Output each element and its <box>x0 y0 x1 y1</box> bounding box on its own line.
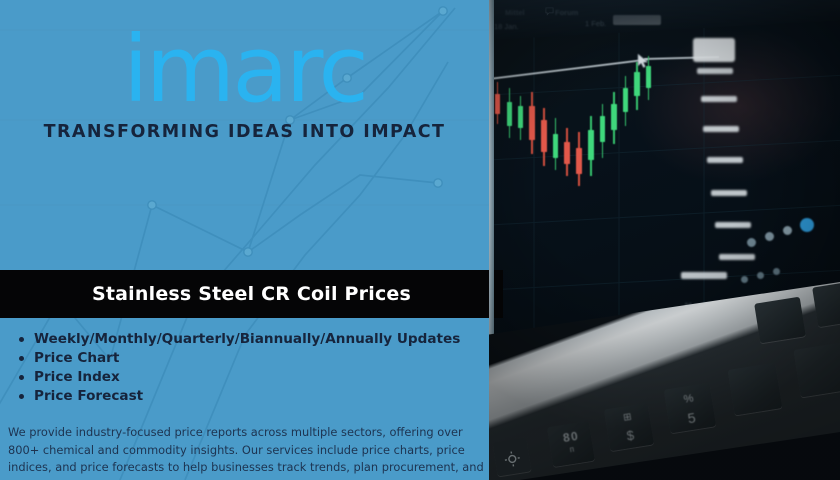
price-level <box>715 222 751 228</box>
list-item: Price Forecast <box>34 387 489 406</box>
candlestick <box>600 104 605 158</box>
keycap-upper-row[interactable] <box>754 297 806 344</box>
candlestick <box>611 92 617 144</box>
price-level <box>719 254 755 260</box>
price-level <box>701 96 737 102</box>
candlestick <box>623 76 628 126</box>
product-title-bar: Stainless Steel CR Coil Prices <box>0 270 503 318</box>
price-highlight-box <box>693 38 735 62</box>
description-text: We provide industry-focused price report… <box>8 424 489 480</box>
status-dot <box>757 272 764 279</box>
candlestick <box>553 118 558 170</box>
status-bar-value <box>681 272 727 279</box>
keycap-five[interactable]: % 5 <box>664 383 716 434</box>
status-dot <box>783 226 792 235</box>
list-item: Price Chart <box>34 349 489 368</box>
left-info-panel: imarc TRANSFORMING IDEAS INTO IMPACT Wee… <box>0 0 489 480</box>
price-level <box>711 190 747 196</box>
keycap-six[interactable] <box>728 363 783 416</box>
candlestick <box>576 132 582 186</box>
mouse-cursor-icon <box>637 53 649 69</box>
price-level <box>697 68 733 74</box>
imarc-logo: imarc <box>123 24 366 116</box>
status-dot <box>747 238 756 247</box>
candlestick <box>518 96 523 140</box>
price-report-banner: imarc TRANSFORMING IDEAS INTO IMPACT Wee… <box>0 0 840 480</box>
price-level <box>703 126 739 132</box>
candlestick <box>507 88 512 138</box>
candlestick <box>495 82 500 124</box>
keycap-dollar[interactable]: ⊞ $ <box>604 403 654 451</box>
keycap-dollar-label: $ <box>607 425 653 447</box>
candlestick <box>529 92 535 154</box>
brand-lockup: imarc TRANSFORMING IDEAS INTO IMPACT <box>0 24 489 142</box>
keycap-five-label: 5 <box>668 406 716 429</box>
feature-list: Weekly/Monthly/Quarterly/Biannually/Annu… <box>0 330 489 406</box>
candlestick <box>588 116 594 176</box>
status-dot <box>773 268 780 275</box>
active-app-dot <box>800 218 814 232</box>
keycap-seven[interactable] <box>794 343 840 398</box>
price-level <box>707 157 743 163</box>
candlestick <box>541 108 547 166</box>
keycap-upper-row[interactable] <box>812 281 840 327</box>
brand-tagline: TRANSFORMING IDEAS INTO IMPACT <box>0 122 489 142</box>
candlestick <box>634 62 640 110</box>
keycap-f-key[interactable]: 8 0 ᴨ <box>547 421 595 467</box>
candlestick <box>564 128 570 176</box>
keycap-percent-label: % <box>665 390 712 409</box>
list-item: Price Index <box>34 368 489 387</box>
list-item: Weekly/Monthly/Quarterly/Biannually/Annu… <box>34 330 489 349</box>
laptop-photo: Mittel Forum 1 Feb. 18 Jan. <box>489 0 840 480</box>
status-dot <box>741 276 748 283</box>
status-dot <box>765 232 774 241</box>
page-title: Stainless Steel CR Coil Prices <box>92 283 411 305</box>
brightness-key-icon <box>493 438 532 477</box>
